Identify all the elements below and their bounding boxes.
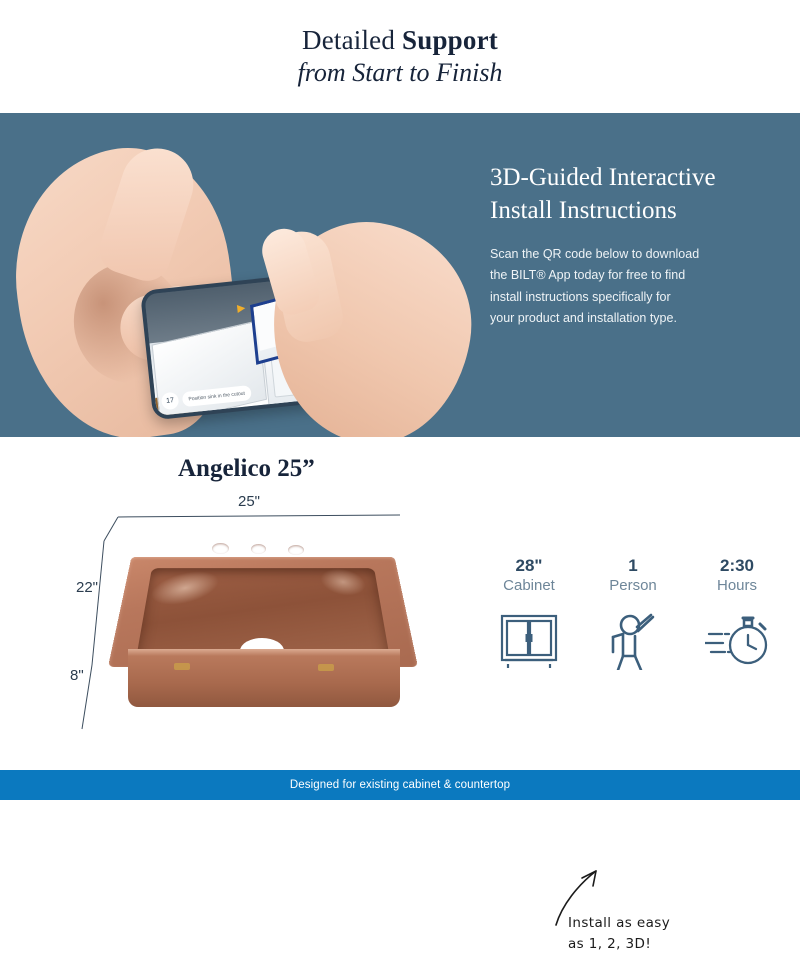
sink-clip-left — [174, 663, 190, 670]
stat-hours-label: Hours — [717, 577, 757, 596]
product-section: Angelico 25” 25" 22" 8" — [0, 437, 800, 770]
stopwatch-icon — [705, 606, 769, 670]
person-icon — [605, 606, 661, 670]
header-title-line1: Detailed Support — [302, 25, 498, 55]
footer-text: Designed for existing cabinet & countert… — [290, 779, 510, 791]
header-title-bold: Support — [402, 25, 498, 55]
stat-hours: 2:30 Hours — [691, 557, 783, 670]
stat-person-label: Person — [609, 577, 657, 596]
hero-title: 3D-Guided Interactive Install Instructio… — [490, 161, 780, 228]
footer-bar: Designed for existing cabinet & countert… — [0, 770, 800, 800]
header-banner: Detailed Support from Start to Finish — [0, 0, 800, 113]
install-stats: 28" Cabinet 1 Per — [483, 557, 783, 670]
dim-line-height — [92, 541, 104, 665]
product-title: Angelico 25” — [178, 455, 315, 483]
stat-person: 1 Person — [587, 557, 679, 670]
stat-cabinet-value: 28" — [516, 557, 543, 576]
ar-arrow-left-icon — [237, 304, 246, 313]
faucet-hole-2 — [251, 544, 266, 554]
faucet-hole-1 — [212, 543, 229, 554]
hero-body-text: Scan the QR code below to download the B… — [490, 244, 780, 330]
infographic-page: Detailed Support from Start to Finish — [0, 0, 800, 800]
hero-text-block: 3D-Guided Interactive Install Instructio… — [490, 161, 780, 330]
product-image-sink — [108, 499, 418, 709]
hands-phone-photo: 17 Position sink in the cutout ‹ ‖ › — [0, 113, 470, 437]
faucet-hole-3 — [288, 545, 304, 555]
stat-person-value: 1 — [628, 557, 637, 576]
header-title-plain: Detailed — [302, 25, 402, 55]
dimension-depth-label: 8" — [70, 667, 84, 684]
handwritten-annotation: Install as easy as 1, 2, 3D! — [568, 913, 670, 955]
header-title-line2: from Start to Finish — [298, 57, 503, 88]
dimension-height-label: 22" — [76, 579, 98, 596]
sink-clip-right — [318, 664, 334, 671]
stat-hours-value: 2:30 — [720, 557, 754, 576]
hero-panel: 17 Position sink in the cutout ‹ ‖ › 3D-… — [0, 113, 800, 437]
stat-cabinet: 28" Cabinet — [483, 557, 575, 670]
cabinet-icon — [498, 606, 560, 670]
stat-cabinet-label: Cabinet — [503, 577, 555, 596]
sink-body — [128, 649, 400, 707]
